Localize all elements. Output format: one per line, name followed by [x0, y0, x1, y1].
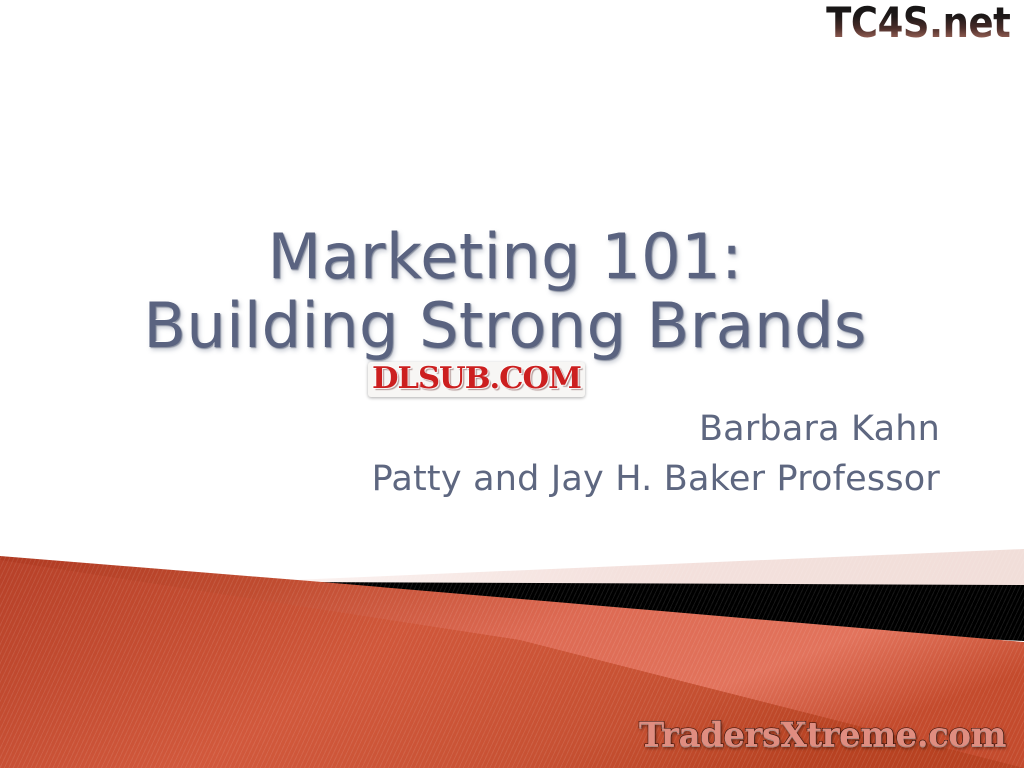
- subtitle-line-2: Patty and Jay H. Baker Professor: [372, 455, 940, 505]
- watermark-tradersxtreme: TradersXtreme.com: [639, 718, 1006, 752]
- presentation-slide: Marketing 101: Building Strong Brands Ba…: [0, 0, 1024, 768]
- pink-band-shape: [292, 549, 1024, 585]
- title-line-1: Marketing 101:: [60, 222, 950, 291]
- watermark-dlsub: DLSUB.COM: [368, 362, 585, 397]
- black-band-shape: [296, 582, 1024, 641]
- watermark-dlsub-label: DLSUB.COM: [372, 364, 581, 394]
- title-line-2: Building Strong Brands: [60, 291, 950, 360]
- subtitle-line-1: Barbara Kahn: [372, 405, 940, 455]
- watermark-tc4s: TC4S.net: [826, 2, 1010, 44]
- slide-subtitle: Barbara Kahn Patty and Jay H. Baker Prof…: [372, 405, 940, 504]
- watermark-tradersxtreme-label: TradersXtreme.com: [639, 718, 1006, 752]
- slide-title: Marketing 101: Building Strong Brands: [60, 222, 950, 361]
